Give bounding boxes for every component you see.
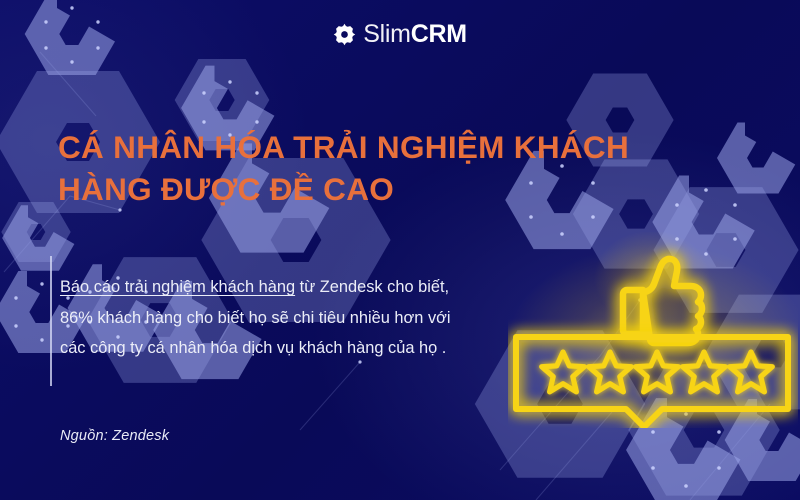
rating-illustration	[508, 232, 798, 428]
body-accent-rule	[50, 256, 52, 386]
brand-logo: SlimCRM	[0, 22, 800, 47]
brand-name-light: Slim	[363, 20, 410, 48]
gear-icon	[333, 23, 356, 46]
source-citation: Nguồn: Zendesk	[60, 428, 169, 444]
brand-name: SlimCRM	[363, 22, 466, 47]
infographic-canvas: SlimCRM CÁ NHÂN HÓA TRẢI NGHIỆM KHÁCH HÀ…	[0, 0, 800, 500]
brand-name-bold: CRM	[411, 20, 467, 48]
report-link[interactable]: Báo cáo trải nghiệm khách hàng	[60, 278, 295, 296]
page-title: CÁ NHÂN HÓA TRẢI NGHIỆM KHÁCH HÀNG ĐƯỢC …	[58, 126, 698, 210]
body-paragraph: Báo cáo trải nghiệm khách hàng từ Zendes…	[60, 272, 460, 363]
